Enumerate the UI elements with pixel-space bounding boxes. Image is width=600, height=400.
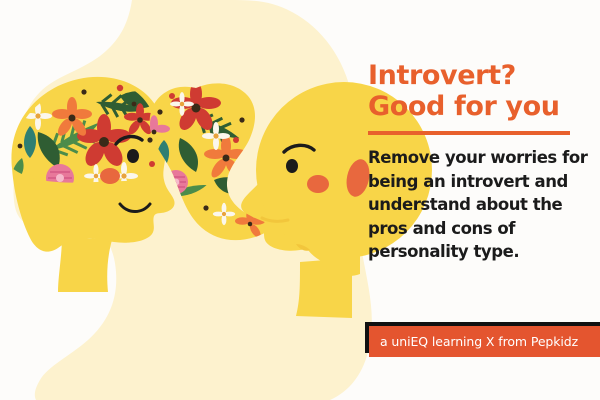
headline-line-2: Good for you [368,91,600,122]
left-head-blush [100,168,120,184]
banner-body: a uniEQ learning X from Pepkidz [369,326,600,357]
left-head-eye [127,149,139,163]
poster-canvas: Introvert? Good for you Remove your worr… [0,0,600,400]
text-column: Introvert? Good for you Remove your worr… [368,60,600,280]
right-head-eye [286,159,298,173]
title-underline-rule [368,131,570,135]
banner-label: a uniEQ learning X from Pepkidz [369,334,578,349]
left-head [0,70,180,292]
footer-banner: a uniEQ learning X from Pepkidz [365,322,600,356]
headline-line-1: Introvert? [368,60,516,91]
right-head-blush [307,175,329,193]
body-paragraph: Remove your worries for being an introve… [368,146,600,264]
page-title: Introvert? Good for you [368,60,600,122]
